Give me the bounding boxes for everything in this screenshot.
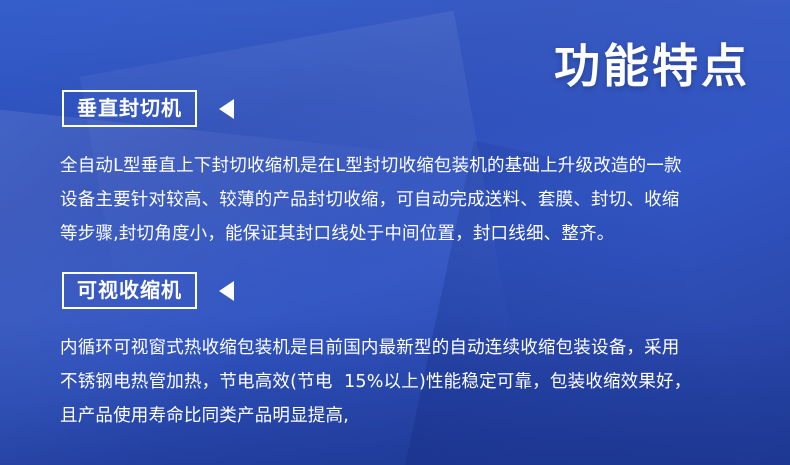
section-body-text: 全自动L型垂直上下封切收缩机是在L型封切收缩包装机的基础上升级改造的一款 设备主… — [0, 149, 790, 251]
section-vertical-sealer: 垂直封切机 全自动L型垂直上下封切收缩机是在L型封切收缩包装机的基础上升级改造的… — [0, 90, 790, 251]
section-visible-shrink-machine: 可视收缩机 内循环可视窗式热收缩包装机是目前国内最新型的自动连续收缩包装设备，采… — [0, 272, 790, 433]
section-tag-label: 垂直封切机 — [62, 90, 197, 127]
section-heading-row: 可视收缩机 — [0, 272, 790, 309]
section-body-text: 内循环可视窗式热收缩包装机是目前国内最新型的自动连续收缩包装设备，采用 不锈钢电… — [0, 331, 790, 433]
triangle-right-icon — [219, 99, 234, 119]
promo-banner: 功能特点 垂直封切机 全自动L型垂直上下封切收缩机是在L型封切收缩包装机的基础上… — [0, 0, 790, 465]
section-tag-label: 可视收缩机 — [62, 272, 197, 309]
page-title: 功能特点 — [554, 30, 750, 96]
triangle-right-icon — [219, 281, 234, 301]
section-heading-row: 垂直封切机 — [0, 90, 790, 127]
